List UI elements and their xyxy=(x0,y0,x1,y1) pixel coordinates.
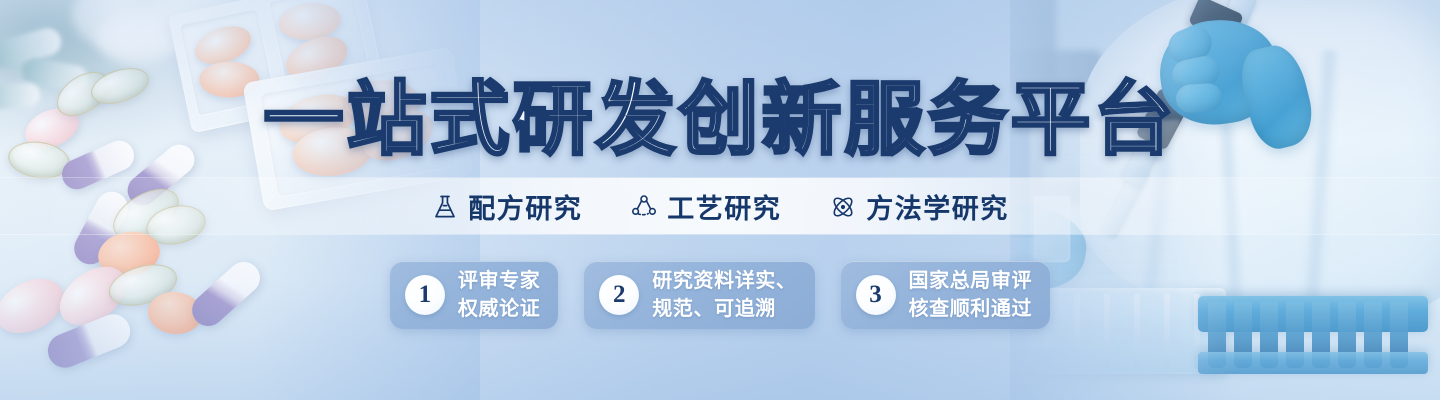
feature-box-1[interactable]: 1 评审专家 权威论证 xyxy=(390,261,558,329)
feature-number-badge: 2 xyxy=(599,275,639,315)
molecule-icon xyxy=(630,193,658,221)
feature-line-2: 权威论证 xyxy=(458,296,540,322)
service-label: 配方研究 xyxy=(468,187,582,226)
feature-box-2[interactable]: 2 研究资料详实、 规范、可追溯 xyxy=(584,261,814,329)
feature-text-block: 评审专家 权威论证 xyxy=(458,268,540,322)
feature-text-block: 研究资料详实、 规范、可追溯 xyxy=(652,268,796,322)
feature-text-block: 国家总局审评 核查顺利通过 xyxy=(909,268,1033,322)
feature-line-2: 核查顺利通过 xyxy=(909,296,1033,322)
feature-line-1: 国家总局审评 xyxy=(909,268,1033,294)
flask-icon xyxy=(431,193,459,221)
feature-line-2: 规范、可追溯 xyxy=(652,296,796,322)
service-item-process[interactable]: 工艺研究 xyxy=(630,187,781,226)
service-item-methodology[interactable]: 方法学研究 xyxy=(829,187,1009,226)
feature-box-3[interactable]: 3 国家总局审评 核查顺利通过 xyxy=(841,261,1051,329)
atom-icon xyxy=(829,193,857,221)
feature-number-badge: 1 xyxy=(405,275,445,315)
service-item-formulation[interactable]: 配方研究 xyxy=(431,187,582,226)
feature-highlights: 1 评审专家 权威论证 2 研究资料详实、 规范、可追溯 3 国家总局审评 核查… xyxy=(0,261,1440,329)
feature-line-1: 评审专家 xyxy=(458,268,540,294)
service-label: 方法学研究 xyxy=(866,187,1009,226)
feature-line-1: 研究资料详实、 xyxy=(652,268,796,294)
service-categories: 配方研究 工艺研究 xyxy=(0,187,1440,226)
title-container: 一站式研发创新服务平台 xyxy=(0,74,1440,166)
feature-number-badge: 3 xyxy=(856,275,896,315)
service-label: 工艺研究 xyxy=(667,187,781,226)
banner-title: 一站式研发创新服务平台 xyxy=(264,74,1177,166)
promotional-banner: 一站式研发创新服务平台 配方研究 xyxy=(0,0,1440,400)
